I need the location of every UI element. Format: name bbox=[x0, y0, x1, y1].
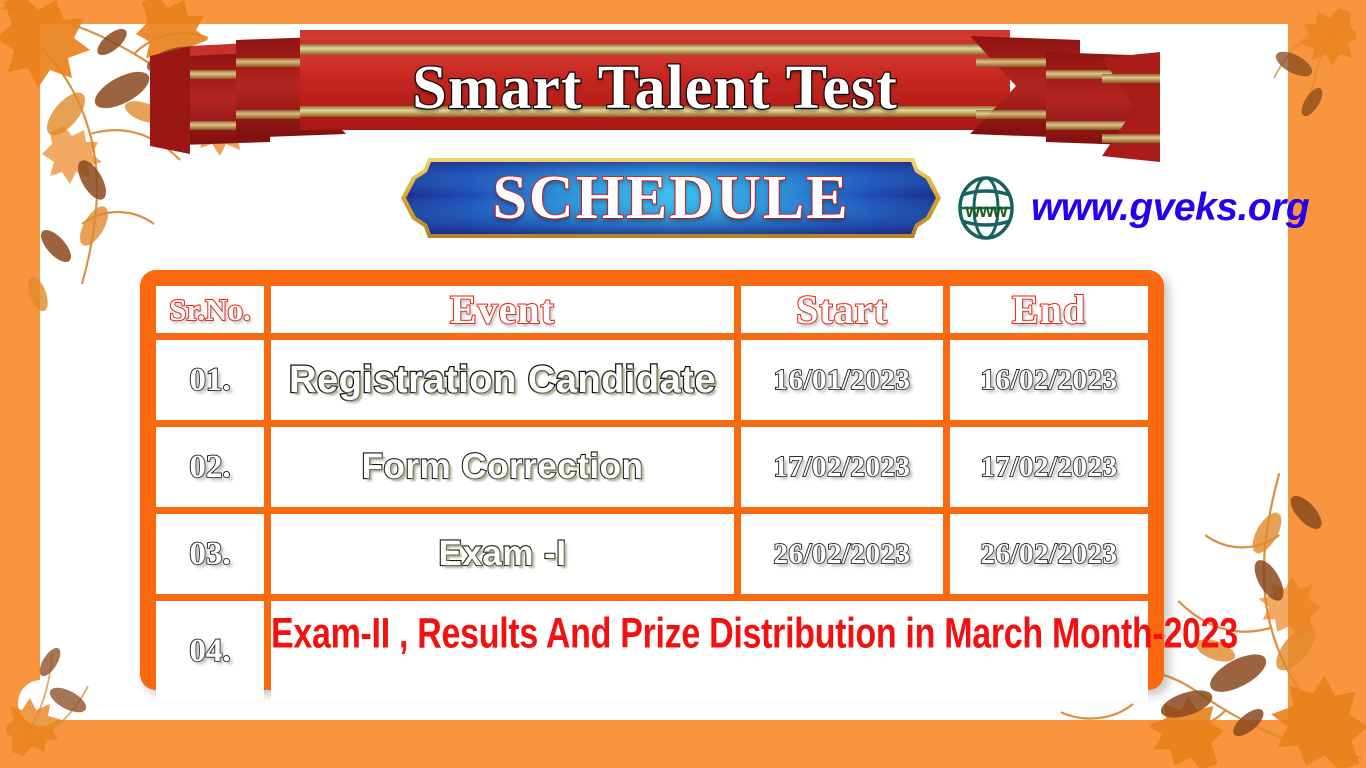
schedule-poster: Smart Talent Test bbox=[0, 0, 1366, 768]
cell-srno: 03. bbox=[156, 514, 264, 594]
table-row: 02. Form Correction 17/02/2023 17/02/202… bbox=[156, 427, 1148, 507]
frame-corner-bottom-left bbox=[18, 680, 64, 726]
cell-start: 16/01/2023 bbox=[741, 340, 943, 420]
cell-start: 17/02/2023 bbox=[741, 427, 943, 507]
table-row-final: 04. Exam-II , Results And Prize Distribu… bbox=[156, 601, 1148, 701]
frame-band-right bbox=[1288, 0, 1366, 768]
cell-srno: 01. bbox=[156, 340, 264, 420]
frame-band-bottom bbox=[0, 720, 1366, 768]
svg-text:www: www bbox=[964, 201, 1008, 222]
header-cell-srno: Sr.No. bbox=[156, 286, 264, 333]
header-cell-end: End bbox=[950, 286, 1148, 333]
cell-end: 26/02/2023 bbox=[950, 514, 1148, 594]
schedule-plaque: SCHEDULE bbox=[398, 155, 944, 241]
cell-end: 16/02/2023 bbox=[950, 340, 1148, 420]
schedule-table: Sr.No. Event Start End 01. bbox=[149, 279, 1155, 708]
cell-srno: 02. bbox=[156, 427, 264, 507]
cell-end: 17/02/2023 bbox=[950, 427, 1148, 507]
table-row: 03. Exam -I 26/02/2023 26/02/2023 bbox=[156, 514, 1148, 594]
table-row: 01. Registration Candidate 16/01/2023 16… bbox=[156, 340, 1148, 420]
website-link[interactable]: www www.gveks.org bbox=[955, 175, 1309, 241]
schedule-table-frame: Sr.No. Event Start End 01. bbox=[140, 270, 1164, 690]
globe-www-icon: www bbox=[955, 175, 1017, 241]
cell-srno: 04. bbox=[156, 601, 264, 701]
website-url-text: www.gveks.org bbox=[1031, 186, 1309, 230]
cell-event: Exam -I bbox=[271, 514, 734, 594]
cell-final-announcement: Exam-II , Results And Prize Distribution… bbox=[271, 601, 1148, 701]
table-header-row: Sr.No. Event Start End bbox=[156, 286, 1148, 333]
cell-event: Registration Candidate bbox=[271, 340, 734, 420]
header-cell-event: Event bbox=[271, 286, 734, 333]
header-cell-start: Start bbox=[741, 286, 943, 333]
poster-title: Smart Talent Test bbox=[150, 40, 1160, 136]
cell-start: 26/02/2023 bbox=[741, 514, 943, 594]
schedule-label: SCHEDULE bbox=[398, 155, 944, 241]
frame-band-left bbox=[0, 0, 40, 768]
cell-event: Form Correction bbox=[271, 427, 734, 507]
frame-band-top bbox=[0, 0, 1366, 24]
